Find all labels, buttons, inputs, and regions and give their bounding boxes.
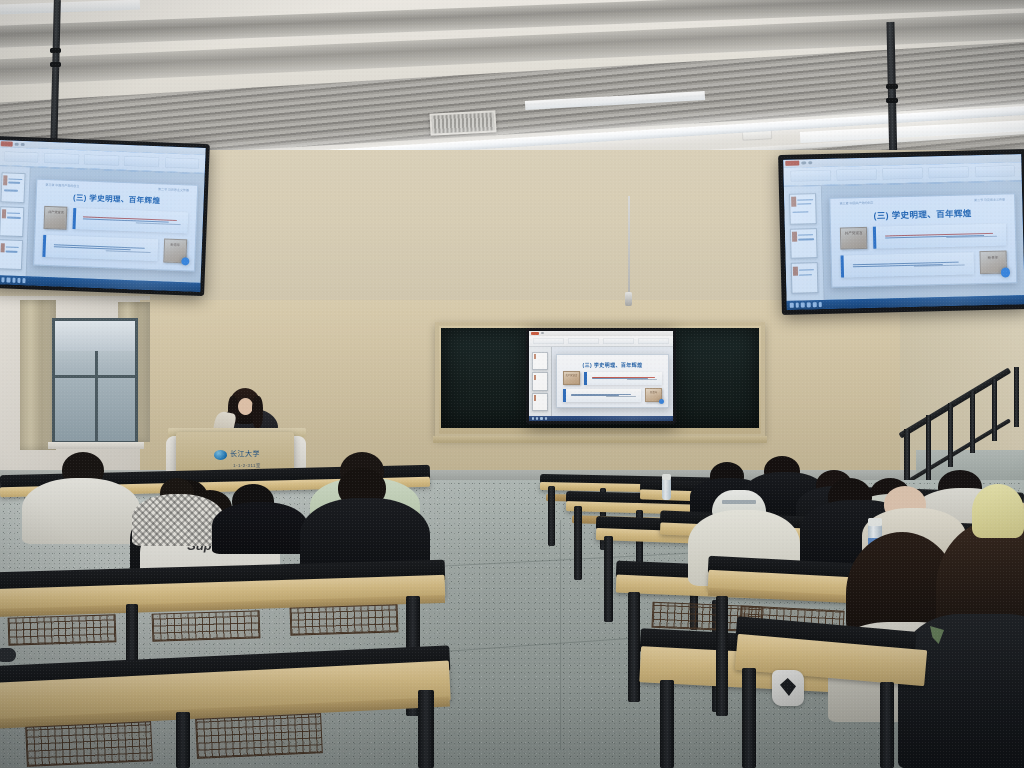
ppt-app-center[interactable]: (三) 学史明理、百年辉煌 共产党宣言 xyxy=(529,331,673,421)
slide-title: (三) 学史明理、百年辉煌 xyxy=(840,207,1005,223)
right-display-screen[interactable]: 第三章 中国共产党的创立 第二节 马克思主义传播 (三) 学史明理、百年辉煌 共… xyxy=(783,154,1024,310)
slide-thumbnail[interactable] xyxy=(532,393,548,411)
windows-taskbar[interactable] xyxy=(529,416,673,421)
title-dot-icon xyxy=(15,143,19,146)
desk-leg xyxy=(604,536,613,622)
book-title: 新青年 xyxy=(170,243,180,247)
water-bottle-cap xyxy=(868,518,882,526)
desk-storage-basket xyxy=(152,610,261,641)
thumb-line xyxy=(7,217,21,219)
search-icon[interactable] xyxy=(795,303,799,308)
window-mullion-h xyxy=(55,375,135,378)
slide-thumbnail[interactable] xyxy=(0,206,24,237)
slide-thumbnail-panel[interactable] xyxy=(529,347,552,415)
task-view-icon[interactable] xyxy=(801,303,805,308)
quote-source xyxy=(946,236,998,238)
search-icon[interactable] xyxy=(536,417,538,420)
thumb-book-icon xyxy=(2,209,6,219)
ribbon-group-paragraph[interactable] xyxy=(883,168,923,180)
current-slide[interactable]: (三) 学史明理、百年辉煌 共产党宣言 xyxy=(556,354,668,408)
thumb-book-icon xyxy=(791,197,796,207)
browser-icon[interactable] xyxy=(813,302,817,307)
thumb-line xyxy=(8,182,20,184)
slide-title: (三) 学史明理、百年辉煌 xyxy=(563,362,662,369)
student-dark-jacket xyxy=(898,614,1024,768)
slide-thumbnail[interactable] xyxy=(0,240,23,271)
right-display-bezel: 第三章 中国共产党的创立 第二节 马克思主义传播 (三) 学史明理、百年辉煌 共… xyxy=(778,149,1024,315)
quote-row-1: 共产党宣言 xyxy=(44,205,188,236)
classroom-window xyxy=(52,318,138,444)
thumb-line xyxy=(798,239,814,241)
desk-leg xyxy=(548,486,555,546)
book-title: 新青年 xyxy=(650,391,657,394)
thumb-line xyxy=(6,251,17,253)
window-sill xyxy=(48,442,144,449)
thumb-book-icon xyxy=(792,232,797,242)
explorer-icon[interactable] xyxy=(540,417,542,420)
thumb-line xyxy=(6,246,19,248)
book-title: 新青年 xyxy=(988,255,999,260)
presenter-face xyxy=(238,398,253,415)
quote-source xyxy=(106,250,151,252)
quote-box-2 xyxy=(43,235,158,261)
ppt-body: 第三章 中国共产党的创立 第二节 马克思主义传播 (三) 学史明理、百年辉煌 共… xyxy=(784,181,1024,301)
title-dot-icon xyxy=(21,143,25,146)
chalk-tray xyxy=(433,436,767,443)
handrail-post xyxy=(992,379,997,441)
ppt-body: 第三章 中国共产党的创立 第二节 马克思主义传播 (三) 学史明理、百年辉煌 共… xyxy=(0,166,205,283)
center-screen-bezel: (三) 学史明理、百年辉煌 共产党宣言 xyxy=(526,328,676,424)
ribbon-group-font[interactable] xyxy=(44,153,79,165)
thumb-line xyxy=(792,211,808,213)
desk-leg xyxy=(716,596,728,716)
quote-source xyxy=(136,223,181,225)
search-icon[interactable] xyxy=(2,278,5,283)
student-yellow-hood xyxy=(972,484,1024,538)
ribbon-group-drawing[interactable] xyxy=(638,338,669,344)
student-body xyxy=(212,502,308,554)
ribbon-group-clipboard[interactable] xyxy=(791,170,831,182)
slide-corner-left: 第三章 中国共产党的创立 xyxy=(840,200,874,205)
desk-rail-cap xyxy=(0,648,16,662)
university-crest-icon xyxy=(214,450,227,460)
ribbon-group-editing[interactable] xyxy=(975,166,1015,178)
handrail-post xyxy=(1014,367,1019,427)
book-title: 共产党宣言 xyxy=(565,374,577,377)
air-vent-icon xyxy=(429,110,496,135)
slide-thumbnail[interactable] xyxy=(790,228,818,259)
current-slide[interactable]: 第三章 中国共产党的创立 第二节 马克思主义传播 (三) 学史明理、百年辉煌 共… xyxy=(829,193,1017,287)
ppt-app-right[interactable]: 第三章 中国共产党的创立 第二节 马克思主义传播 (三) 学史明理、百年辉煌 共… xyxy=(783,154,1024,310)
thumb-line xyxy=(798,234,813,236)
floor-tile-seam xyxy=(560,520,561,750)
ribbon-group-clipboard[interactable] xyxy=(4,151,39,163)
explorer-icon[interactable] xyxy=(12,278,15,283)
presenter-hair-strand-right xyxy=(252,396,263,428)
handrail-post xyxy=(948,403,953,467)
slide-corner-right: 第二节 马克思主义传播 xyxy=(974,197,1005,202)
quote-row-2: 新青年 xyxy=(563,388,662,403)
left-display-screen[interactable]: 第三章 中国共产党的创立 第二节 马克思主义传播 (三) 学史明理、百年辉煌 共… xyxy=(0,140,206,292)
desk-leg xyxy=(574,506,582,580)
quote-source xyxy=(913,265,965,267)
browser-icon[interactable] xyxy=(17,278,20,283)
thumb-line xyxy=(799,269,814,271)
ribbon-group-font[interactable] xyxy=(837,169,877,181)
slide-stage: 第三章 中国共产党的创立 第二节 马克思主义传播 (三) 学史明理、百年辉煌 共… xyxy=(27,167,205,283)
quote-row-1: 共产党宣言 xyxy=(840,222,1006,251)
pole-bracket-right xyxy=(886,84,898,89)
desk-leg xyxy=(628,592,640,702)
student-body xyxy=(22,478,140,544)
thumb-book-icon xyxy=(4,176,8,186)
center-display-screen[interactable]: (三) 学史明理、百年辉煌 共产党宣言 xyxy=(529,331,673,421)
quote-box-1 xyxy=(73,208,188,234)
explorer-icon[interactable] xyxy=(807,302,811,307)
thumb-line xyxy=(7,212,20,214)
left-display-bezel: 第三章 中国共产党的创立 第二节 马克思主义传播 (三) 学史明理、百年辉煌 共… xyxy=(0,136,210,296)
ribbon-group-drawing[interactable] xyxy=(124,156,159,168)
quote-box-2 xyxy=(563,389,641,402)
wps-watermark-badge xyxy=(181,257,189,265)
title-dot-icon xyxy=(801,161,806,165)
desk-leg xyxy=(176,712,190,768)
thumb-line xyxy=(4,190,18,192)
ppt-ribbon[interactable] xyxy=(529,336,673,348)
desk-leg xyxy=(418,690,434,768)
ribbon-group-editing[interactable] xyxy=(164,157,199,169)
slide-stage: 第三章 中国共产党的创立 第二节 马克思主义传播 (三) 学史明理、百年辉煌 共… xyxy=(822,181,1024,300)
start-icon[interactable] xyxy=(532,417,534,420)
slide-corner-left: 第三章 中国共产党的创立 xyxy=(45,183,79,188)
start-icon[interactable] xyxy=(790,303,794,308)
wps-taskbar-icon[interactable] xyxy=(22,279,25,284)
quote-row-2: 新青年 xyxy=(841,250,1007,279)
thumb-line xyxy=(799,274,812,276)
quote-box-1 xyxy=(584,372,662,385)
desk-leg xyxy=(742,668,756,768)
lecture-hall-photo: 第三章 中国共产党的创立 第二节 马克思主义传播 (三) 学史明理、百年辉煌 共… xyxy=(0,0,1024,768)
desk-storage-basket xyxy=(25,721,153,767)
wps-watermark-badge xyxy=(1001,268,1010,277)
quote-box-2 xyxy=(841,252,974,277)
thumb-line xyxy=(9,178,23,180)
desk-storage-basket xyxy=(195,713,323,759)
desk-leg xyxy=(880,682,894,768)
pole-bracket-left-2 xyxy=(50,62,61,67)
quote-row-1: 共产党宣言 xyxy=(563,371,662,386)
slide-thumbnail[interactable] xyxy=(790,262,818,293)
water-bottle-cap xyxy=(662,474,671,480)
desk-storage-basket xyxy=(8,614,117,645)
book-title: 共产党宣言 xyxy=(48,210,64,215)
thumb-line xyxy=(797,203,811,205)
desk-leg xyxy=(660,680,674,768)
desk-storage-basket xyxy=(290,604,399,635)
task-view-icon[interactable] xyxy=(7,278,10,283)
hanging-microphone-icon xyxy=(625,292,632,306)
slide-thumbnail[interactable] xyxy=(1,172,26,203)
wps-taskbar-icon[interactable] xyxy=(818,302,822,307)
wps-logo-icon xyxy=(1,142,13,147)
ribbon-group-drawing[interactable] xyxy=(929,167,969,179)
current-slide[interactable]: 第三章 中国共产党的创立 第二节 马克思主义传播 (三) 学史明理、百年辉煌 共… xyxy=(33,179,198,272)
ppt-body: (三) 学史明理、百年辉煌 共产党宣言 xyxy=(529,347,673,415)
quote-box-1 xyxy=(873,224,1006,249)
pole-bracket-right-2 xyxy=(886,98,898,103)
student-patterned-jacket xyxy=(132,494,224,546)
wps-logo-icon xyxy=(531,332,539,335)
handrail-post xyxy=(926,415,931,481)
ppt-app-left[interactable]: 第三章 中国共产党的创立 第二节 马克思主义传播 (三) 学史明理、百年辉煌 共… xyxy=(0,140,206,292)
quote-row-2: 新青年 xyxy=(43,233,187,264)
book-cover-gongchandang: 共产党宣言 xyxy=(563,371,580,385)
thumb-book-icon xyxy=(1,243,5,253)
slide-thumbnail-panel[interactable] xyxy=(0,166,31,277)
book-cover-gongchandang: 共产党宣言 xyxy=(44,206,68,229)
ribbon-group-font[interactable] xyxy=(568,338,599,344)
hanging-microphone-cable xyxy=(628,196,630,296)
ribbon-group-paragraph[interactable] xyxy=(603,338,634,344)
thumb-book-icon xyxy=(534,354,537,360)
thumb-line xyxy=(797,199,813,201)
thumb-book-icon xyxy=(534,375,537,381)
wps-logo-icon xyxy=(785,161,799,166)
window-curtain-left xyxy=(20,300,56,450)
slide-thumbnail[interactable] xyxy=(789,193,817,224)
slide-stage: (三) 学史明理、百年辉煌 共产党宣言 xyxy=(552,347,673,415)
slide-thumbnail[interactable] xyxy=(532,372,548,390)
book-title: 共产党宣言 xyxy=(845,231,863,236)
water-bottle xyxy=(662,478,671,500)
thumb-book-icon xyxy=(534,395,537,401)
ribbon-group-paragraph[interactable] xyxy=(84,154,119,166)
cap-brand-label xyxy=(722,500,756,504)
university-name-label: 长江大学 xyxy=(230,449,276,458)
book-cover-gongchandang: 共产党宣言 xyxy=(840,227,867,250)
handrail-post xyxy=(970,391,975,453)
title-dot-icon xyxy=(808,161,813,165)
title-dot-icon xyxy=(541,332,544,334)
window-view-sky xyxy=(55,321,135,351)
slide-corner-right: 第二节 马克思主义传播 xyxy=(158,187,189,192)
wps-taskbar-icon[interactable] xyxy=(545,417,547,420)
pole-bracket-left xyxy=(50,48,61,53)
ribbon-group-clipboard[interactable] xyxy=(533,338,564,344)
slide-thumbnail[interactable] xyxy=(532,352,548,370)
desk-leg xyxy=(126,604,138,664)
slide-thumbnail-panel[interactable] xyxy=(784,186,825,301)
wps-watermark-badge xyxy=(659,399,665,405)
thumb-book-icon xyxy=(793,266,798,276)
